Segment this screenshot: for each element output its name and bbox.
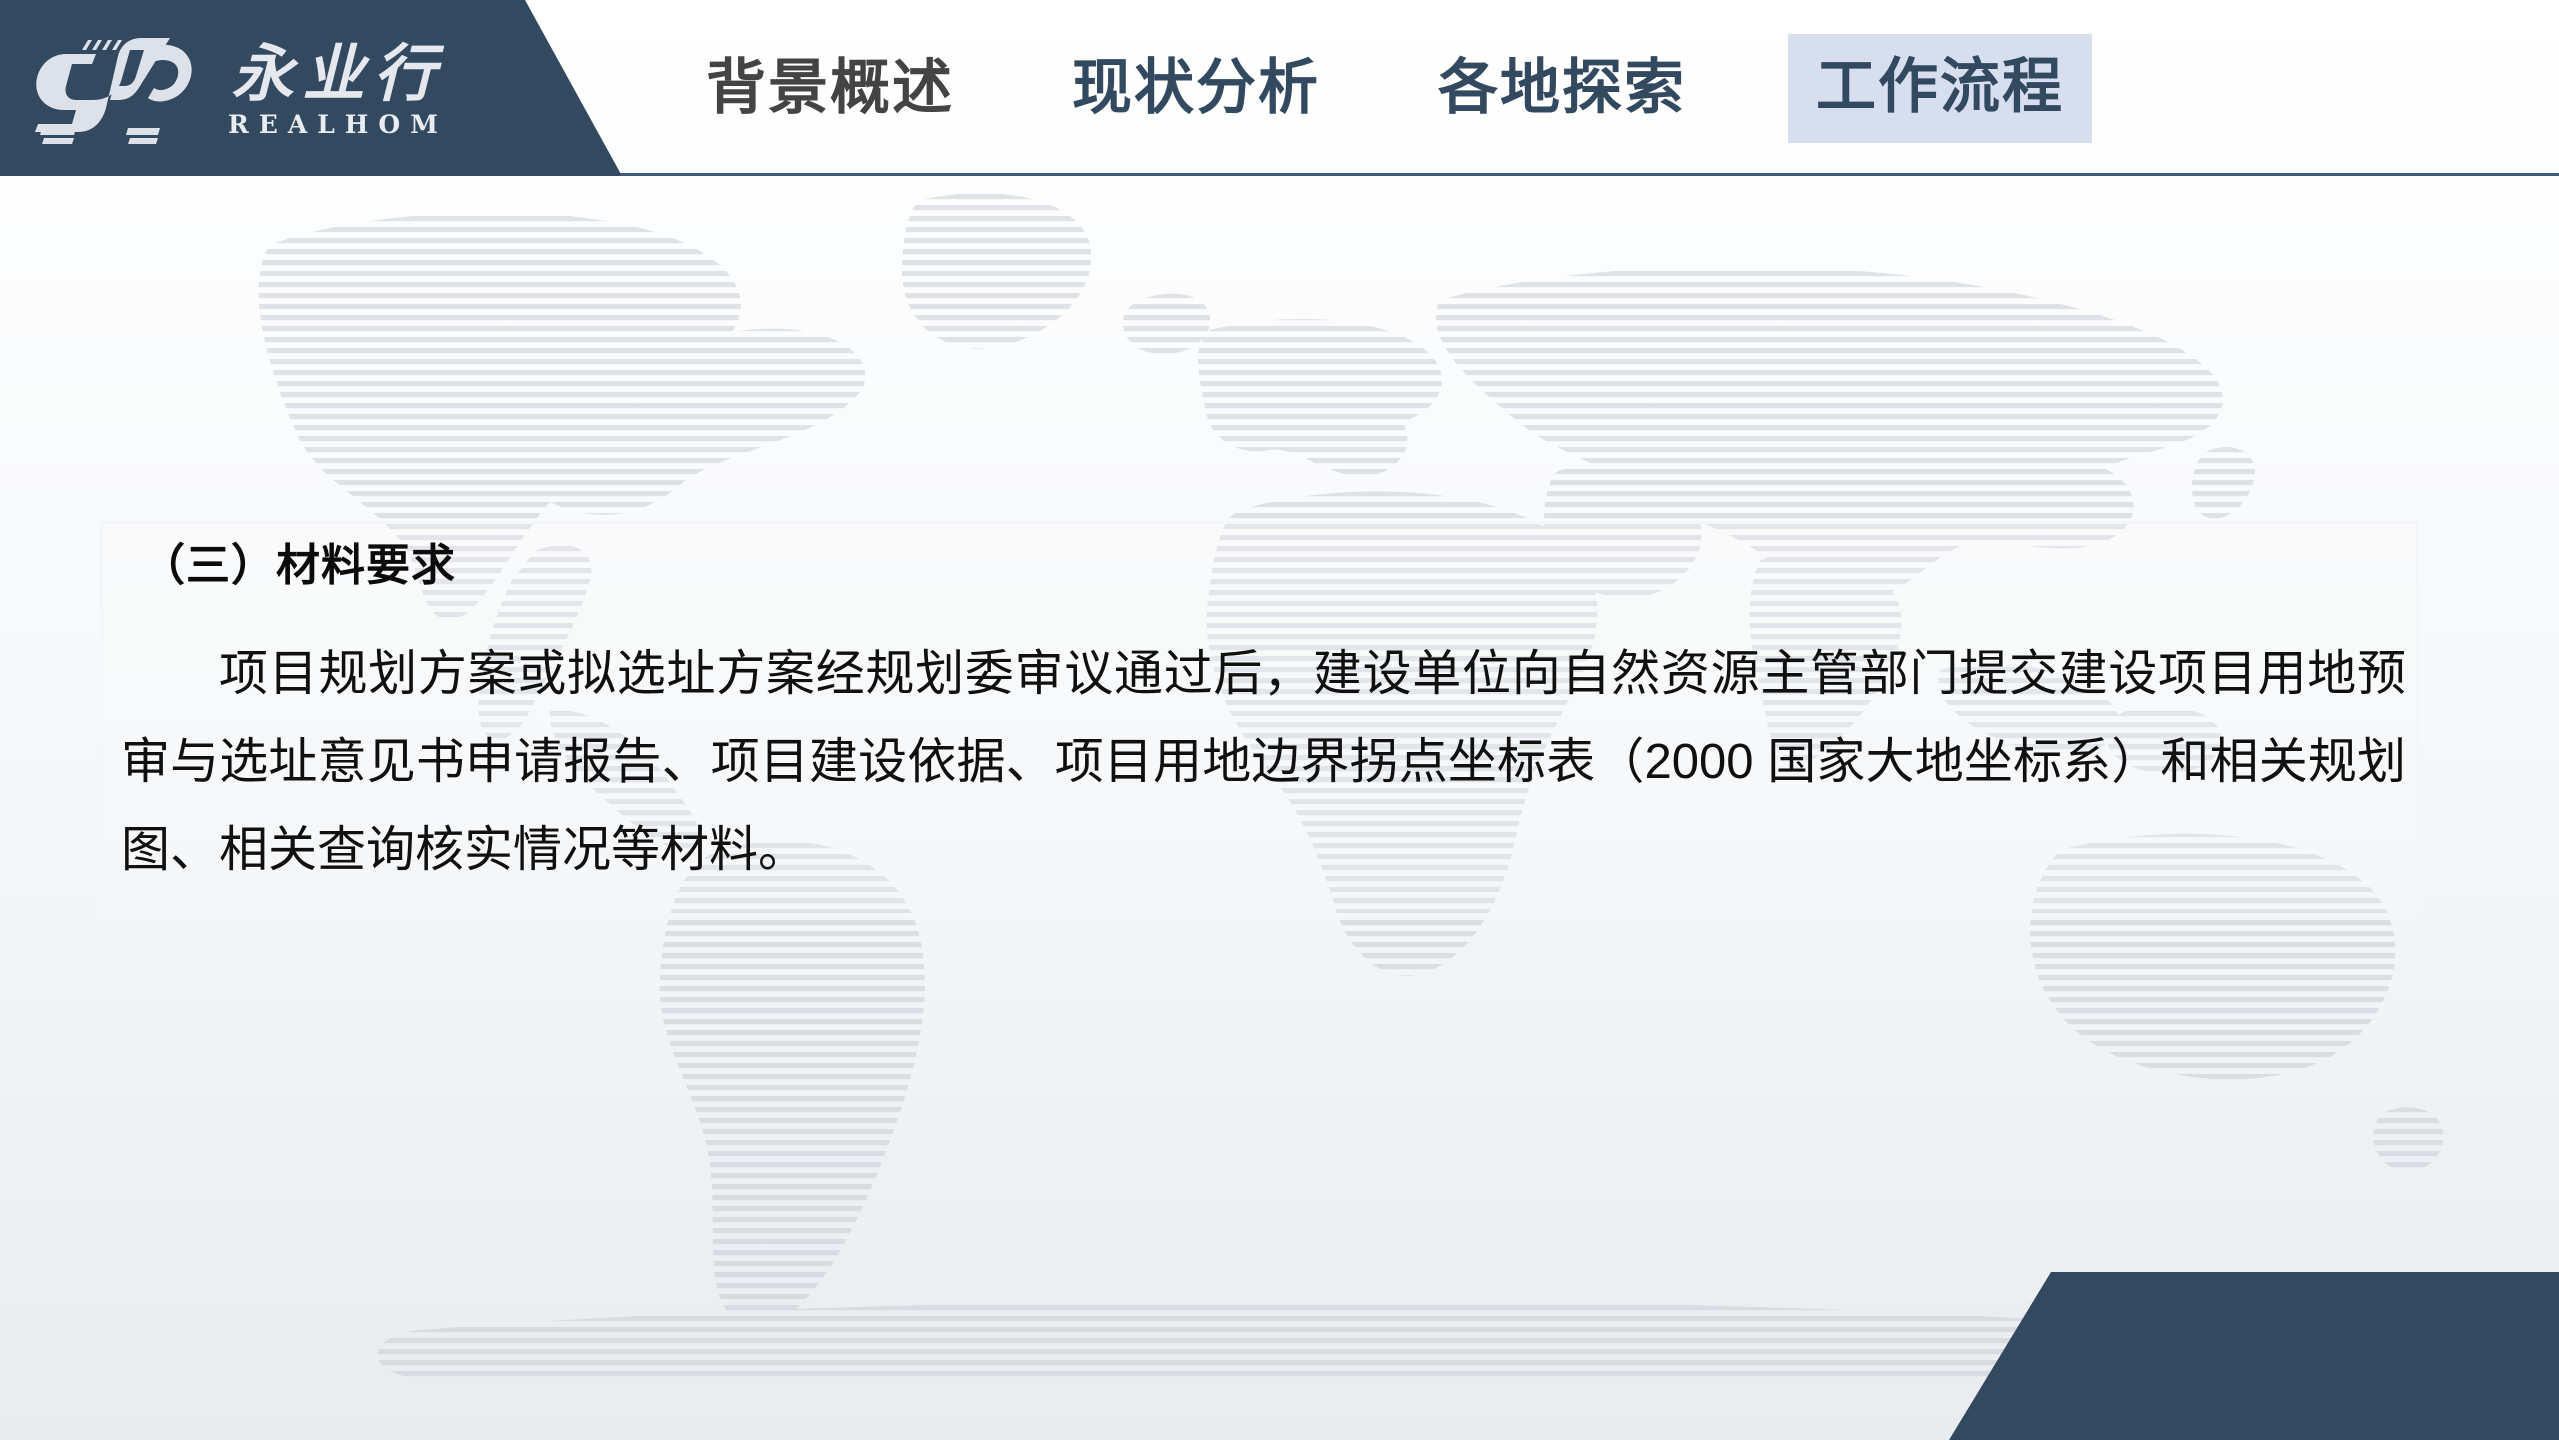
section-nav: 背景概述 现状分析 各地探索 工作流程: [690, 0, 2092, 176]
realhom-yh-monogram-icon: [18, 28, 218, 148]
tab-work-process[interactable]: 工作流程: [1788, 34, 2092, 143]
slide-header: 永业行 REALHOM 背景概述 现状分析 各地探索 工作流程: [0, 0, 2559, 176]
corner-decoration-shape: [1949, 1272, 2559, 1440]
content-card: （三）材料要求 项目规划方案或拟选址方案经规划委审议通过后，建设单位向自然资源主…: [100, 521, 2419, 916]
slide-canvas: 永业行 REALHOM 背景概述 现状分析 各地探索 工作流程 （三）材料要求 …: [0, 0, 2559, 1440]
brand-name-en: REALHOM: [228, 110, 448, 139]
brand-name-cn: 永业行: [231, 41, 444, 106]
tab-current-analysis[interactable]: 现状分析: [1056, 40, 1336, 136]
tab-regional-exploration[interactable]: 各地探索: [1422, 40, 1702, 136]
tab-background-overview[interactable]: 背景概述: [690, 40, 970, 136]
section-heading: （三）材料要求: [141, 540, 456, 593]
brand-wordmark: 永业行 REALHOM: [228, 37, 448, 139]
body-paragraph: 项目规划方案或拟选址方案经规划委审议通过后，建设单位向自然资源主管部门提交建设项…: [121, 630, 2406, 894]
brand-logo[interactable]: 永业行 REALHOM: [18, 18, 518, 158]
